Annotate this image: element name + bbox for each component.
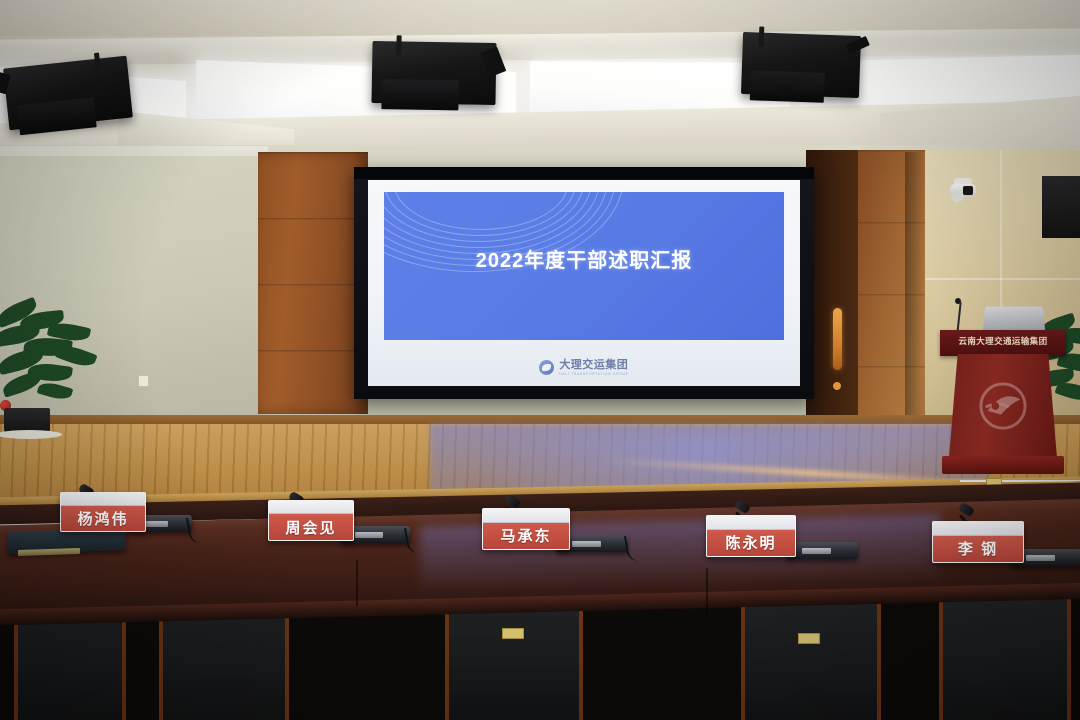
podium-emblem-icon: [974, 382, 1032, 430]
door-handle[interactable]: [833, 308, 842, 370]
laptop[interactable]: [983, 307, 1045, 331]
nameplate-text: 李 钢: [958, 538, 998, 559]
desk-microphone[interactable]: [786, 513, 858, 559]
wall-speaker: [1042, 176, 1080, 238]
slide-footer-logo: 大理交运集团 DALI TRANSPORTATION GROUP: [368, 360, 800, 376]
wood-panel-recess: [905, 152, 925, 424]
podium-microphone-head: [955, 298, 961, 304]
slide-content-panel: 2022年度干部述职汇报: [384, 192, 784, 340]
nameplate: 马承东: [482, 508, 570, 550]
stage-light-fixture: [741, 32, 861, 98]
logo-chinese-text: 大理交运集团: [559, 360, 628, 371]
table-seam: [706, 568, 708, 614]
wall-seam: [925, 278, 1080, 280]
stage-light-fixture: [3, 56, 133, 131]
wall-switch-plate[interactable]: [138, 375, 149, 387]
potted-plant-left: [0, 300, 114, 440]
door-knob[interactable]: [833, 382, 841, 390]
nameplate: 陈永明: [706, 515, 796, 557]
conference-room-scene: 2022年度干部述职汇报 大理交运集团 DALI TRANSPORTATION …: [0, 0, 1080, 720]
nameplate: 李 钢: [932, 521, 1024, 563]
nameplate-text: 杨鸿伟: [77, 508, 128, 529]
screen-frame-top: [354, 167, 814, 179]
security-camera-icon: [950, 178, 976, 200]
nameplate-text: 马承东: [500, 525, 551, 546]
nameplate-text: 陈永明: [725, 532, 776, 553]
podium-lectern: 云南大理交通运输集团: [940, 330, 1066, 480]
wood-panel-left: [258, 152, 368, 414]
group-logo-icon: [539, 360, 554, 375]
table-seam: [356, 560, 358, 606]
nameplate-text: 周会见: [285, 517, 336, 538]
slide-title: 2022年度干部述职汇报: [384, 244, 784, 273]
projection-screen: 2022年度干部述职汇报 大理交运集团 DALI TRANSPORTATION …: [354, 167, 814, 399]
screen-surface: 2022年度干部述职汇报 大理交运集团 DALI TRANSPORTATION …: [368, 180, 800, 386]
stage-light-fixture: [371, 41, 496, 105]
logo-english-text: DALI TRANSPORTATION GROUP: [559, 373, 628, 376]
podium-base: [942, 456, 1064, 474]
nameplate: 周会见: [268, 500, 354, 541]
ceiling: [0, 0, 1080, 150]
nameplate: 杨鸿伟: [60, 492, 146, 532]
podium-sign-text: 云南大理交通运输集团: [940, 335, 1066, 347]
